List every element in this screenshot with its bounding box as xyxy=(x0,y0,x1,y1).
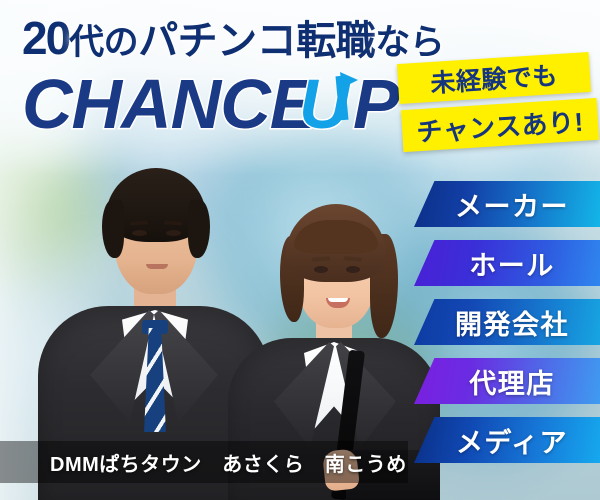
category-label: メーカー xyxy=(445,185,569,224)
man-mouth xyxy=(146,264,168,269)
category-label: 開発会社 xyxy=(445,303,569,342)
category-button-hall[interactable]: ホール xyxy=(414,240,600,286)
woman-eye-right xyxy=(346,266,360,273)
headline-kanji: 転職 xyxy=(296,19,375,63)
category-label: 代理店 xyxy=(459,362,555,401)
badge-no-experience: 未経験でも xyxy=(397,52,591,104)
logo-p-text: P xyxy=(353,66,400,143)
headline-mid: 代の xyxy=(69,23,138,62)
category-button-media[interactable]: メディア xyxy=(414,417,600,463)
category-label: ホール xyxy=(459,244,555,283)
man-eye-left xyxy=(132,230,147,236)
chance-up-logo: CHANCE U P xyxy=(22,66,422,144)
category-button-list: メーカー ホール 開発会社 代理店 メディア xyxy=(410,181,600,481)
caption-bar: DMMぱちタウン あさくら 南こうめ xyxy=(0,441,408,483)
advertisement-banner[interactable]: 20代のパチンコ転職なら CHANCE U P 未経験でも チャンスあり! メー… xyxy=(0,0,600,500)
woman-eye-left xyxy=(314,266,328,273)
category-button-development-company[interactable]: 開発会社 xyxy=(414,299,600,345)
woman-teeth xyxy=(328,298,348,302)
category-button-agency[interactable]: 代理店 xyxy=(414,358,600,404)
caption-text: DMMぱちタウン あさくら 南こうめ xyxy=(0,448,407,477)
headline-number: 20 xyxy=(22,12,69,64)
man-hair-side-left xyxy=(102,200,124,258)
category-label: メディア xyxy=(446,421,568,460)
promo-badges: 未経験でも チャンスあり! xyxy=(398,56,598,154)
headline-katakana: パチンコ xyxy=(138,19,296,63)
woman-bangs xyxy=(294,220,378,254)
category-button-maker[interactable]: メーカー xyxy=(414,181,600,227)
headline: 20代のパチンコ転職なら xyxy=(22,14,442,63)
logo-chance-text: CHANCE xyxy=(22,66,319,143)
man-hair-side-right xyxy=(188,200,210,258)
man-eye-right xyxy=(166,230,181,236)
up-arrow-stem-icon xyxy=(340,76,344,120)
badge-chance-available: チャンスあり! xyxy=(401,98,599,152)
